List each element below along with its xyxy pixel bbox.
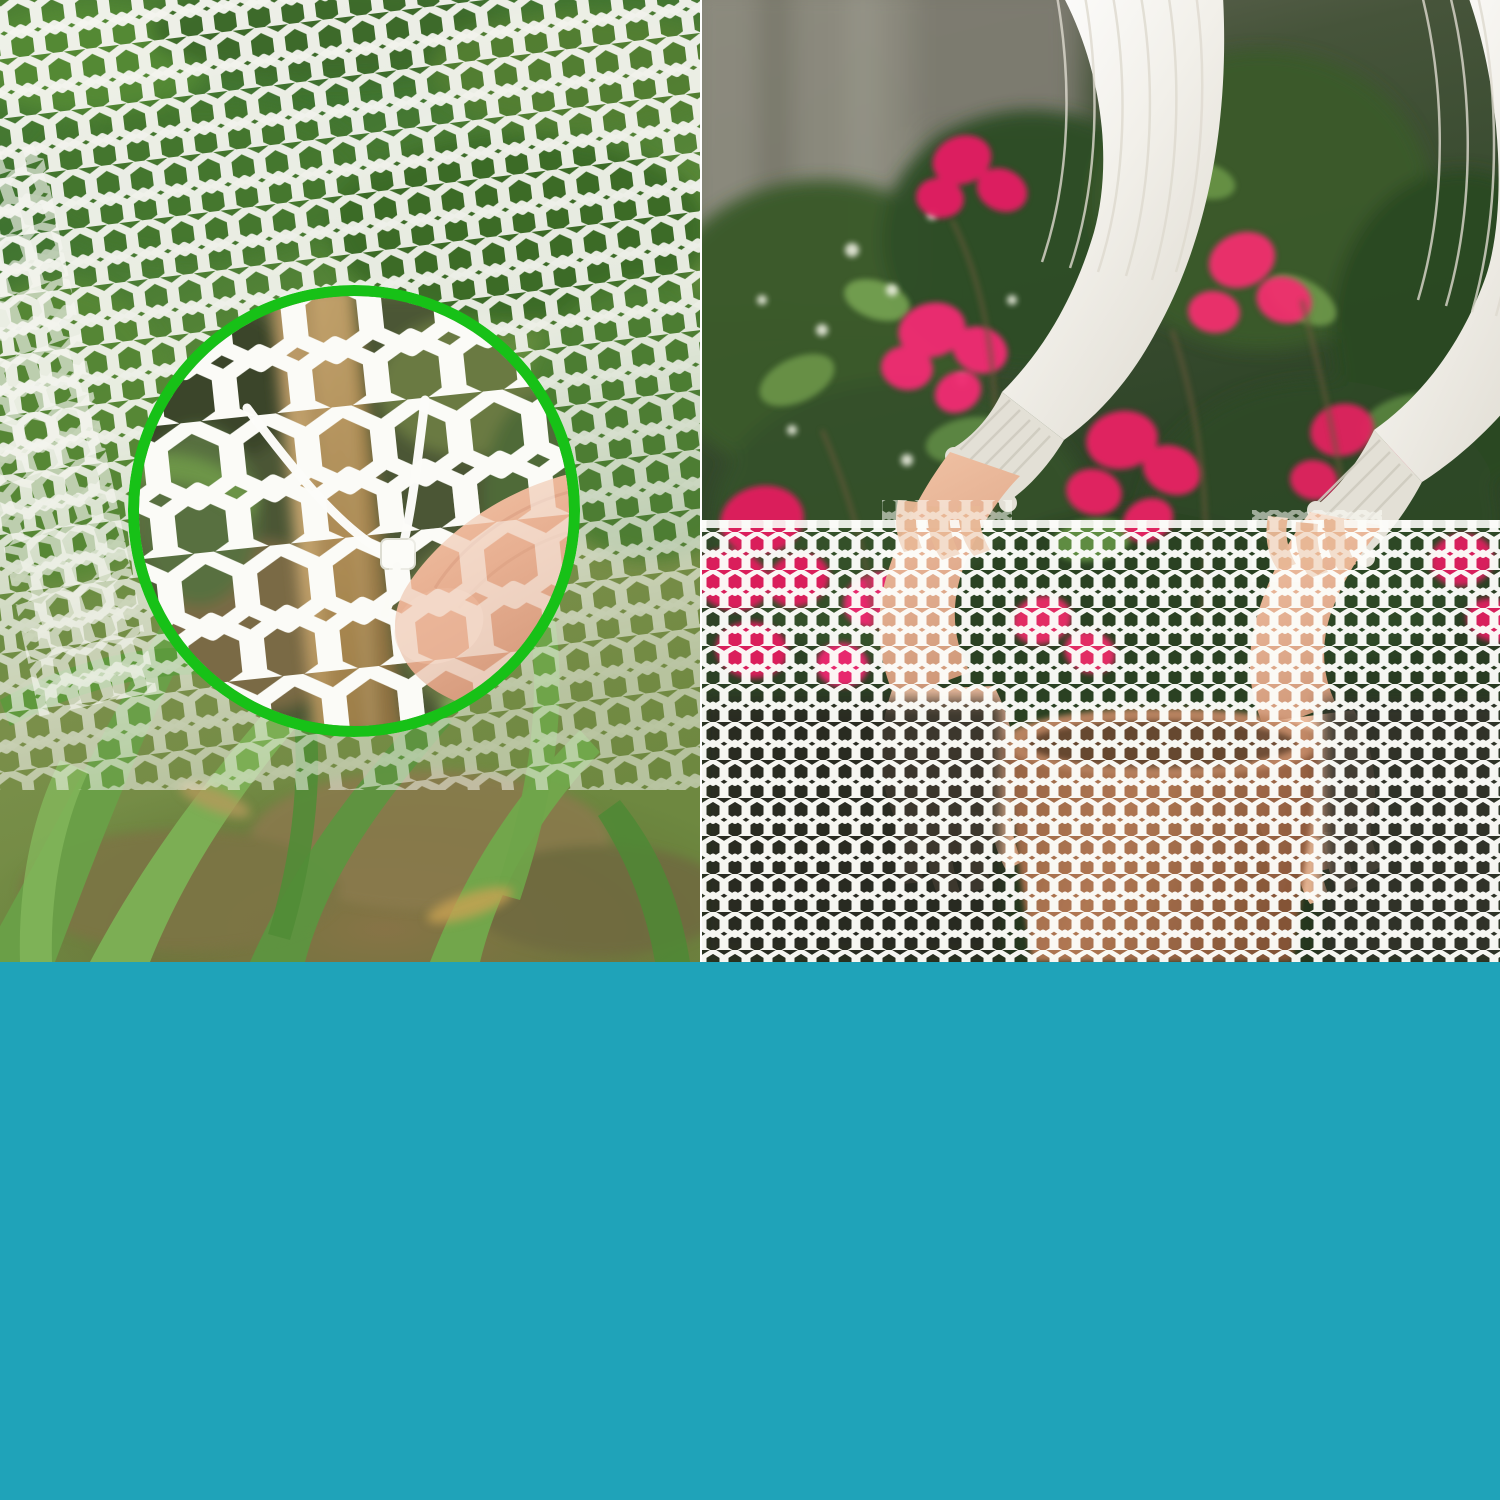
photo-hands-installing-mesh bbox=[702, 0, 1500, 962]
mesh-detail-magnifier bbox=[128, 285, 580, 737]
product-feature-poster: A good helper for protecting plants Easy… bbox=[0, 0, 1500, 1500]
photo-collage bbox=[0, 0, 1500, 962]
magnifier-content bbox=[139, 296, 569, 726]
feature-banner: A good helper for protecting plants Easy… bbox=[0, 962, 1500, 1500]
